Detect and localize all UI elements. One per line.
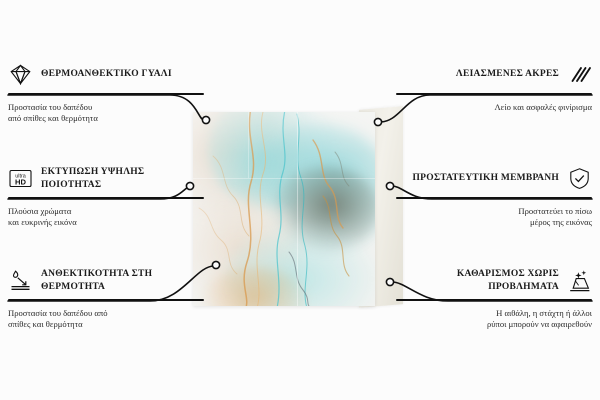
ultra-hd-icon: ultra HD: [8, 166, 33, 191]
feature-heading: ΘΕΡΜΟΑΝΘΕΚΤΙΚΟ ΓΥΑΛΙ: [8, 62, 204, 87]
feature-heading: ΠΡΟΣΤΑΤΕΥΤΙΚΗ ΜΕΜΒΡΑΝΗ: [396, 166, 592, 191]
feature-block-polished-edges: ΛΕΙΑΣΜΕΝΕΣ ΑΚΡΕΣ Λείο και ασφαλές φινίρι…: [396, 62, 592, 113]
feature-description-line: Προστασία του δαπέδου από: [8, 308, 204, 319]
feature-block-heat-resistance: ΑΝΘΕΚΤΙΚΟΤΗΤΑ ΣΤΗ ΘΕΡΜΟΤΗΤΑ Προστασία το…: [8, 268, 204, 331]
infographic-stage: ΘΕΡΜΟΑΝΘΕΚΤΙΚΟ ΓΥΑΛΙ Προστασία του δαπέδ…: [0, 0, 600, 400]
shield-check-icon: [567, 166, 592, 191]
feature-heading: ΑΝΘΕΚΤΙΚΟΤΗΤΑ ΣΤΗ ΘΕΡΜΟΤΗΤΑ: [8, 268, 204, 293]
feature-divider: [396, 90, 592, 100]
feature-title: ΚΑΘΑΡΙΣΜΟΣ ΧΩΡΙΣ ΠΡΟΒΛΗΜΑΤΑ: [396, 268, 559, 293]
feature-description-line: και ευκρινής εικόνα: [8, 217, 204, 228]
feature-divider: [8, 90, 204, 100]
feature-divider: [396, 296, 592, 306]
feature-description-line: Πλούσια χρώματα: [8, 206, 204, 217]
feature-description-line: Λείο και ασφαλές φινίρισμα: [396, 102, 592, 113]
feature-block-easy-cleaning: ΚΑΘΑΡΙΣΜΟΣ ΧΩΡΙΣ ΠΡΟΒΛΗΜΑΤΑ Η αιθάλη, η …: [396, 268, 592, 331]
feature-title: ΑΝΘΕΚΤΙΚΟΤΗΤΑ ΣΤΗ ΘΕΡΜΟΤΗΤΑ: [41, 268, 204, 293]
product-panel-front: [193, 112, 375, 306]
feature-description-line: από σπίθες και θερμότητα: [8, 113, 204, 124]
feature-divider: [8, 296, 204, 306]
feature-title: ΘΕΡΜΟΑΝΘΕΚΤΙΚΟ ΓΥΑΛΙ: [41, 68, 172, 81]
feature-title: ΕΚΤΥΠΩΣΗ ΥΨΗΛΗΣ ΠΟΙΟΤΗΤΑΣ: [41, 166, 204, 191]
glass-reflection-line: [248, 112, 249, 178]
feature-description: Πλούσια χρώματα και ευκρινής εικόνα: [8, 206, 204, 229]
feature-description-line: ρύποι μπορούν να αφαιρεθούν: [396, 319, 592, 330]
feature-heading: ΚΑΘΑΡΙΣΜΟΣ ΧΩΡΙΣ ΠΡΟΒΛΗΜΑΤΑ: [396, 268, 592, 293]
feature-description-line: Η αιθάλη, η στάχτη ή άλλοι: [396, 308, 592, 319]
feature-divider: [8, 194, 204, 204]
heat-resistance-icon: [8, 268, 33, 293]
feature-heading: ΛΕΙΑΣΜΕΝΕΣ ΑΚΡΕΣ: [396, 62, 592, 87]
feature-description: Η αιθάλη, η στάχτη ή άλλοι ρύποι μπορούν…: [396, 308, 592, 331]
artwork-veins: [193, 112, 375, 306]
diamond-icon: [8, 62, 33, 87]
feature-heading: ultra HD ΕΚΤΥΠΩΣΗ ΥΨΗΛΗΣ ΠΟΙΟΤΗΤΑΣ: [8, 166, 204, 191]
feature-block-protective-film: ΠΡΟΣΤΑΤΕΥΤΙΚΗ ΜΕΜΒΡΑΝΗ Προστατεύει το πί…: [396, 166, 592, 229]
glass-reflection-line: [297, 112, 298, 306]
feature-divider: [396, 194, 592, 204]
feature-title: ΠΡΟΣΤΑΤΕΥΤΙΚΗ ΜΕΜΒΡΑΝΗ: [413, 172, 560, 185]
product-image: [183, 112, 403, 308]
svg-text:HD: HD: [15, 178, 26, 187]
feature-description-line: Προστατεύει το πίσω: [396, 206, 592, 217]
polished-edges-icon: [567, 62, 592, 87]
feature-block-heat-resistant-glass: ΘΕΡΜΟΑΝΘΕΚΤΙΚΟ ΓΥΑΛΙ Προστασία του δαπέδ…: [8, 62, 204, 125]
feature-description-line: μέρος της εικόνας: [396, 217, 592, 228]
feature-description: Προστασία του δαπέδου από σπίθες και θερ…: [8, 102, 204, 125]
feature-title: ΛΕΙΑΣΜΕΝΕΣ ΑΚΡΕΣ: [456, 68, 559, 81]
feature-description-line: Προστασία του δαπέδου: [8, 102, 204, 113]
feature-description: Προστατεύει το πίσω μέρος της εικόνας: [396, 206, 592, 229]
feature-description-line: σπίθες και θερμότητα: [8, 319, 204, 330]
easy-clean-sparkle-icon: [567, 268, 592, 293]
feature-description: Προστασία του δαπέδου από σπίθες και θερ…: [8, 308, 204, 331]
product-artwork: [193, 112, 375, 306]
feature-description: Λείο και ασφαλές φινίρισμα: [396, 102, 592, 113]
glass-reflection-line: [193, 178, 375, 179]
feature-block-high-quality-print: ultra HD ΕΚΤΥΠΩΣΗ ΥΨΗΛΗΣ ΠΟΙΟΤΗΤΑΣ Πλούσ…: [8, 166, 204, 229]
